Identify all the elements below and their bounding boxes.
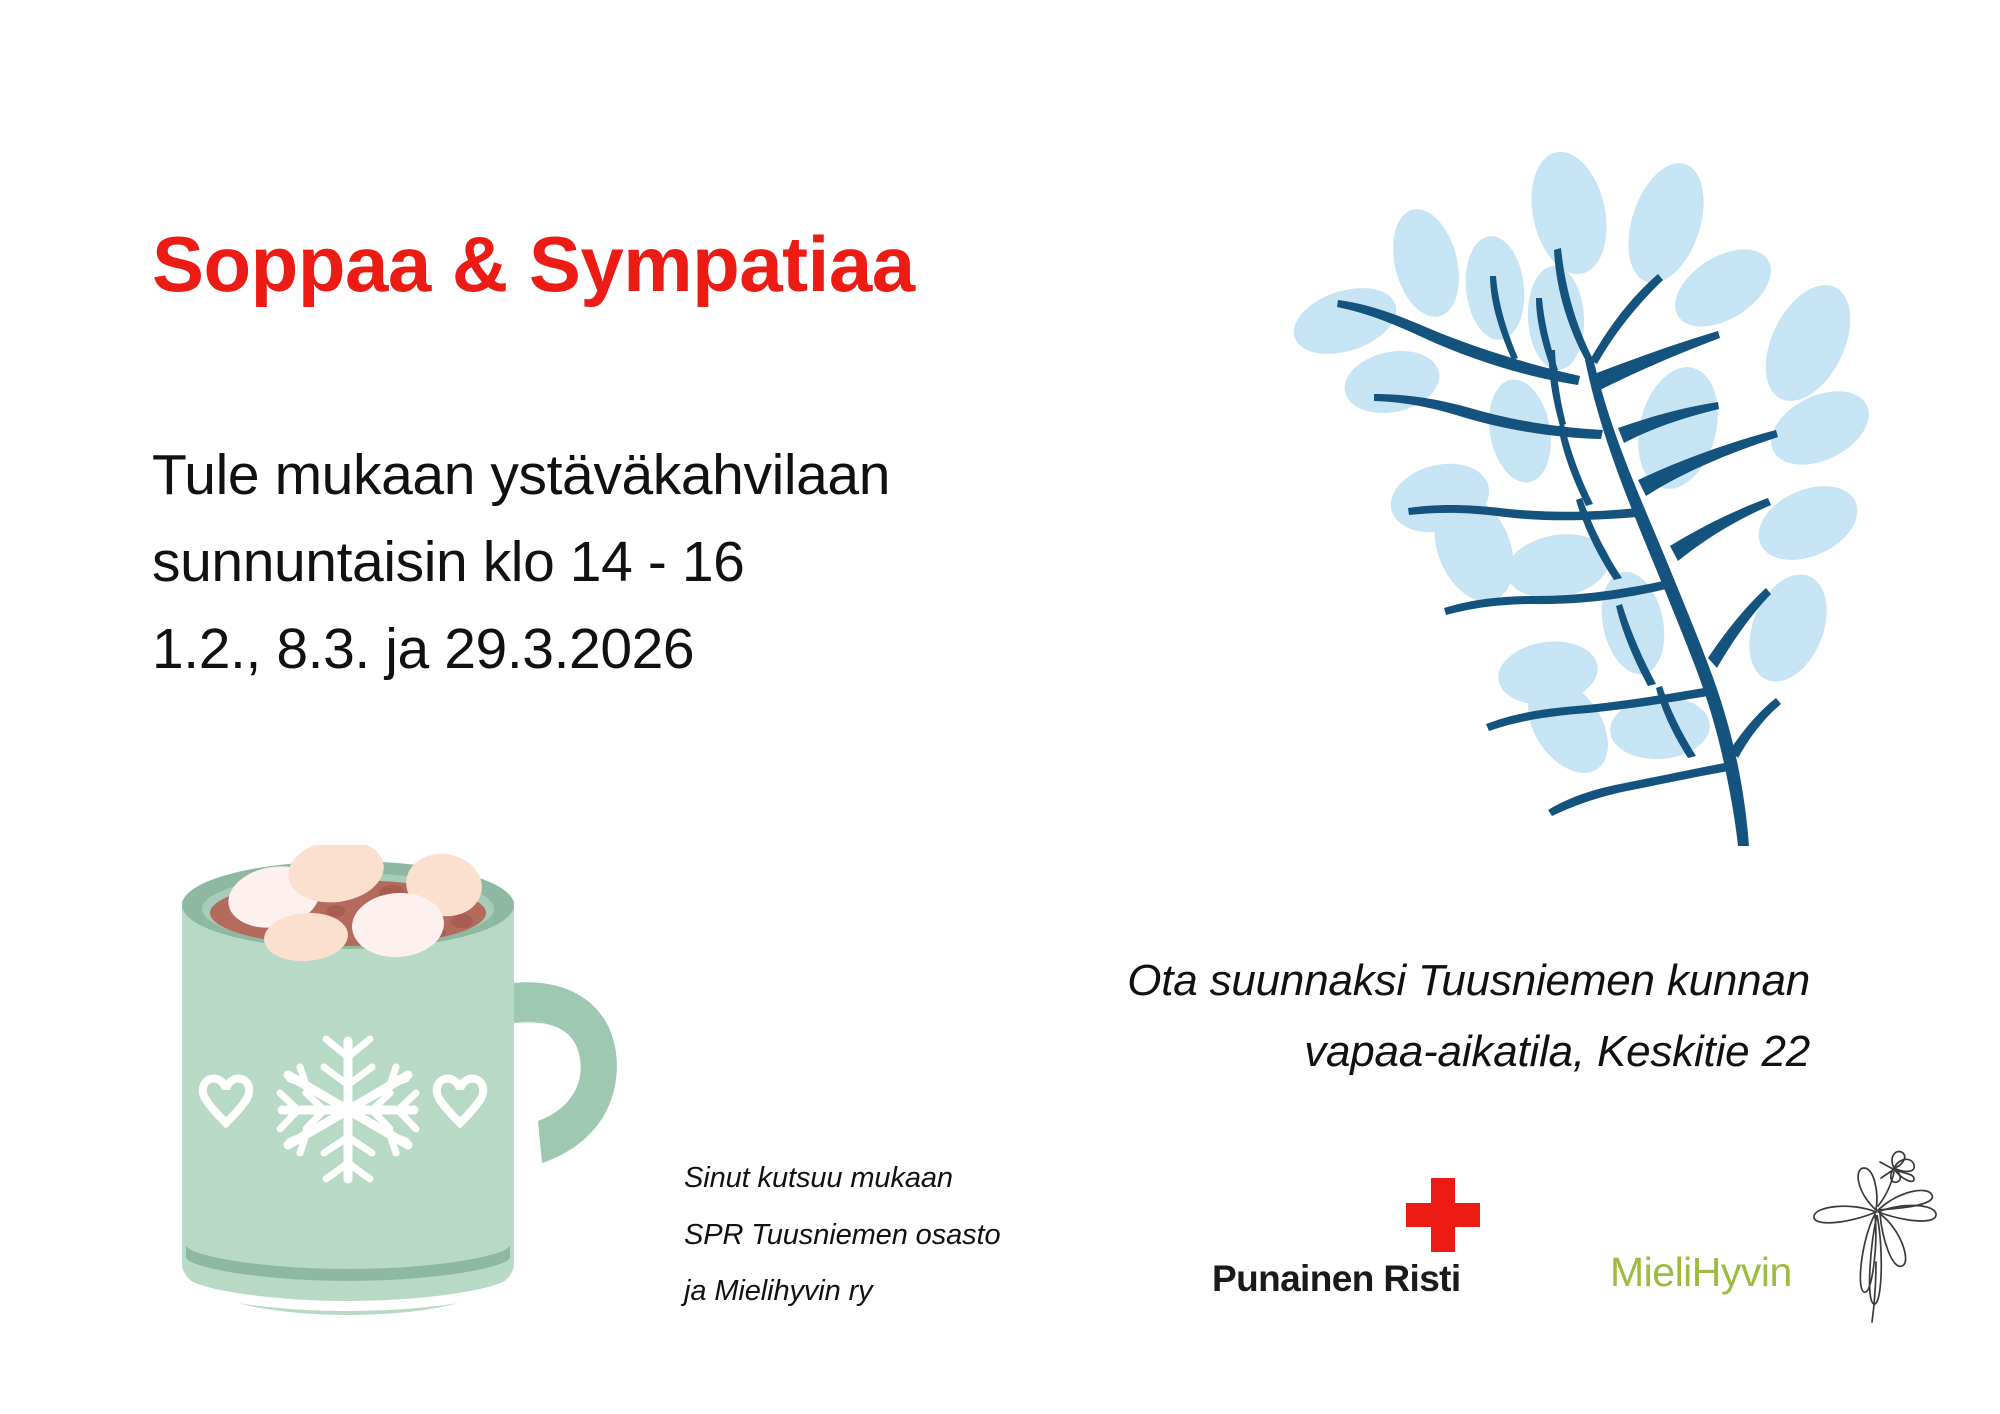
- page-title: Soppaa & Sympatiaa: [152, 225, 915, 303]
- venue-address-line-1: Ota suunnaksi Tuusniemen kunnan: [810, 945, 1810, 1016]
- hot-cocoa-mug-illustration: [140, 845, 640, 1345]
- mielihyvin-logo: MieliHyvin: [1610, 1148, 1940, 1323]
- event-details-text: Tule mukaan ystäväkahvilaan sunnuntaisin…: [152, 432, 1052, 694]
- red-cross-icon: [1406, 1178, 1480, 1252]
- organizer-line-1: Sinut kutsuu mukaan: [684, 1150, 1001, 1207]
- event-detail-line-2: sunnuntaisin klo 14 - 16: [152, 519, 1052, 606]
- poster-canvas: Soppaa & Sympatiaa Tule mukaan ystäväkah…: [0, 0, 2000, 1414]
- venue-address-text: Ota suunnaksi Tuusniemen kunnan vapaa-ai…: [810, 945, 1810, 1088]
- event-detail-line-1: Tule mukaan ystäväkahvilaan: [152, 432, 1052, 519]
- mielihyvin-flower-icon: [1796, 1142, 1946, 1327]
- organizer-line-3: ja Mielihyvin ry: [684, 1263, 1001, 1320]
- event-detail-line-3: 1.2., 8.3. ja 29.3.2026: [152, 606, 1052, 693]
- mielihyvin-wordmark: MieliHyvin: [1610, 1249, 1792, 1296]
- venue-address-line-2: vapaa-aikatila, Keskitie 22: [810, 1016, 1810, 1087]
- mug-handle: [512, 982, 617, 1163]
- organizer-line-2: SPR Tuusniemen osasto: [684, 1207, 1001, 1264]
- branch-leaf-blobs: [1285, 145, 1880, 788]
- organizer-invitation-text: Sinut kutsuu mukaan SPR Tuusniemen osast…: [684, 1150, 1001, 1320]
- red-cross-vertical-bar: [1431, 1178, 1455, 1252]
- winter-branch-illustration: [1268, 128, 1888, 846]
- punainen-risti-wordmark: Punainen Risti: [1212, 1258, 1461, 1300]
- punainen-risti-logo: Punainen Risti: [1212, 1178, 1492, 1308]
